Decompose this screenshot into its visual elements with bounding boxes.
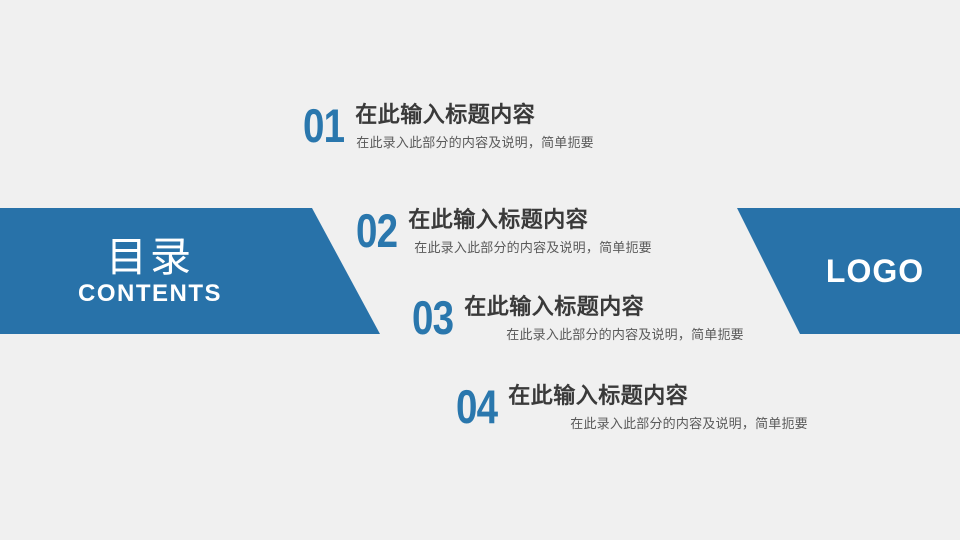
contents-title-en: CONTENTS — [78, 282, 222, 306]
agenda-item-number: 03 — [412, 296, 453, 339]
agenda-item-subtitle: 在此录入此部分的内容及说明，简单扼要 — [506, 328, 744, 344]
agenda-item-03[interactable]: 03 在此输入标题内容 在此录入此部分的内容及说明，简单扼要 — [412, 296, 744, 343]
logo-label: LOGO — [790, 208, 960, 334]
agenda-item-title: 在此输入标题内容 — [464, 296, 744, 321]
agenda-item-body: 在此输入标题内容 在此录入此部分的内容及说明，简单扼要 — [408, 209, 652, 256]
agenda-item-04[interactable]: 04 在此输入标题内容 在此录入此部分的内容及说明，简单扼要 — [456, 385, 808, 432]
agenda-item-subtitle: 在此录入此部分的内容及说明，简单扼要 — [570, 417, 808, 433]
presentation-slide: 目录 CONTENTS LOGO 01 在此输入标题内容 在此录入此部分的内容及… — [0, 0, 960, 540]
agenda-item-01[interactable]: 01 在此输入标题内容 在此录入此部分的内容及说明，简单扼要 — [303, 104, 594, 151]
agenda-item-number: 02 — [356, 209, 397, 252]
agenda-item-subtitle: 在此录入此部分的内容及说明，简单扼要 — [356, 136, 594, 152]
contents-title-cn: 目录 — [106, 237, 194, 278]
agenda-item-body: 在此输入标题内容 在此录入此部分的内容及说明，简单扼要 — [508, 385, 808, 432]
agenda-item-number: 04 — [456, 385, 497, 428]
agenda-item-number: 01 — [303, 104, 344, 147]
agenda-item-title: 在此输入标题内容 — [355, 104, 594, 129]
contents-title-group: 目录 CONTENTS — [0, 214, 300, 328]
agenda-item-title: 在此输入标题内容 — [408, 209, 652, 234]
agenda-item-body: 在此输入标题内容 在此录入此部分的内容及说明，简单扼要 — [464, 296, 744, 343]
agenda-item-subtitle: 在此录入此部分的内容及说明，简单扼要 — [414, 241, 652, 257]
agenda-item-02[interactable]: 02 在此输入标题内容 在此录入此部分的内容及说明，简单扼要 — [356, 209, 652, 256]
agenda-item-body: 在此输入标题内容 在此录入此部分的内容及说明，简单扼要 — [355, 104, 594, 151]
agenda-item-title: 在此输入标题内容 — [508, 385, 808, 410]
